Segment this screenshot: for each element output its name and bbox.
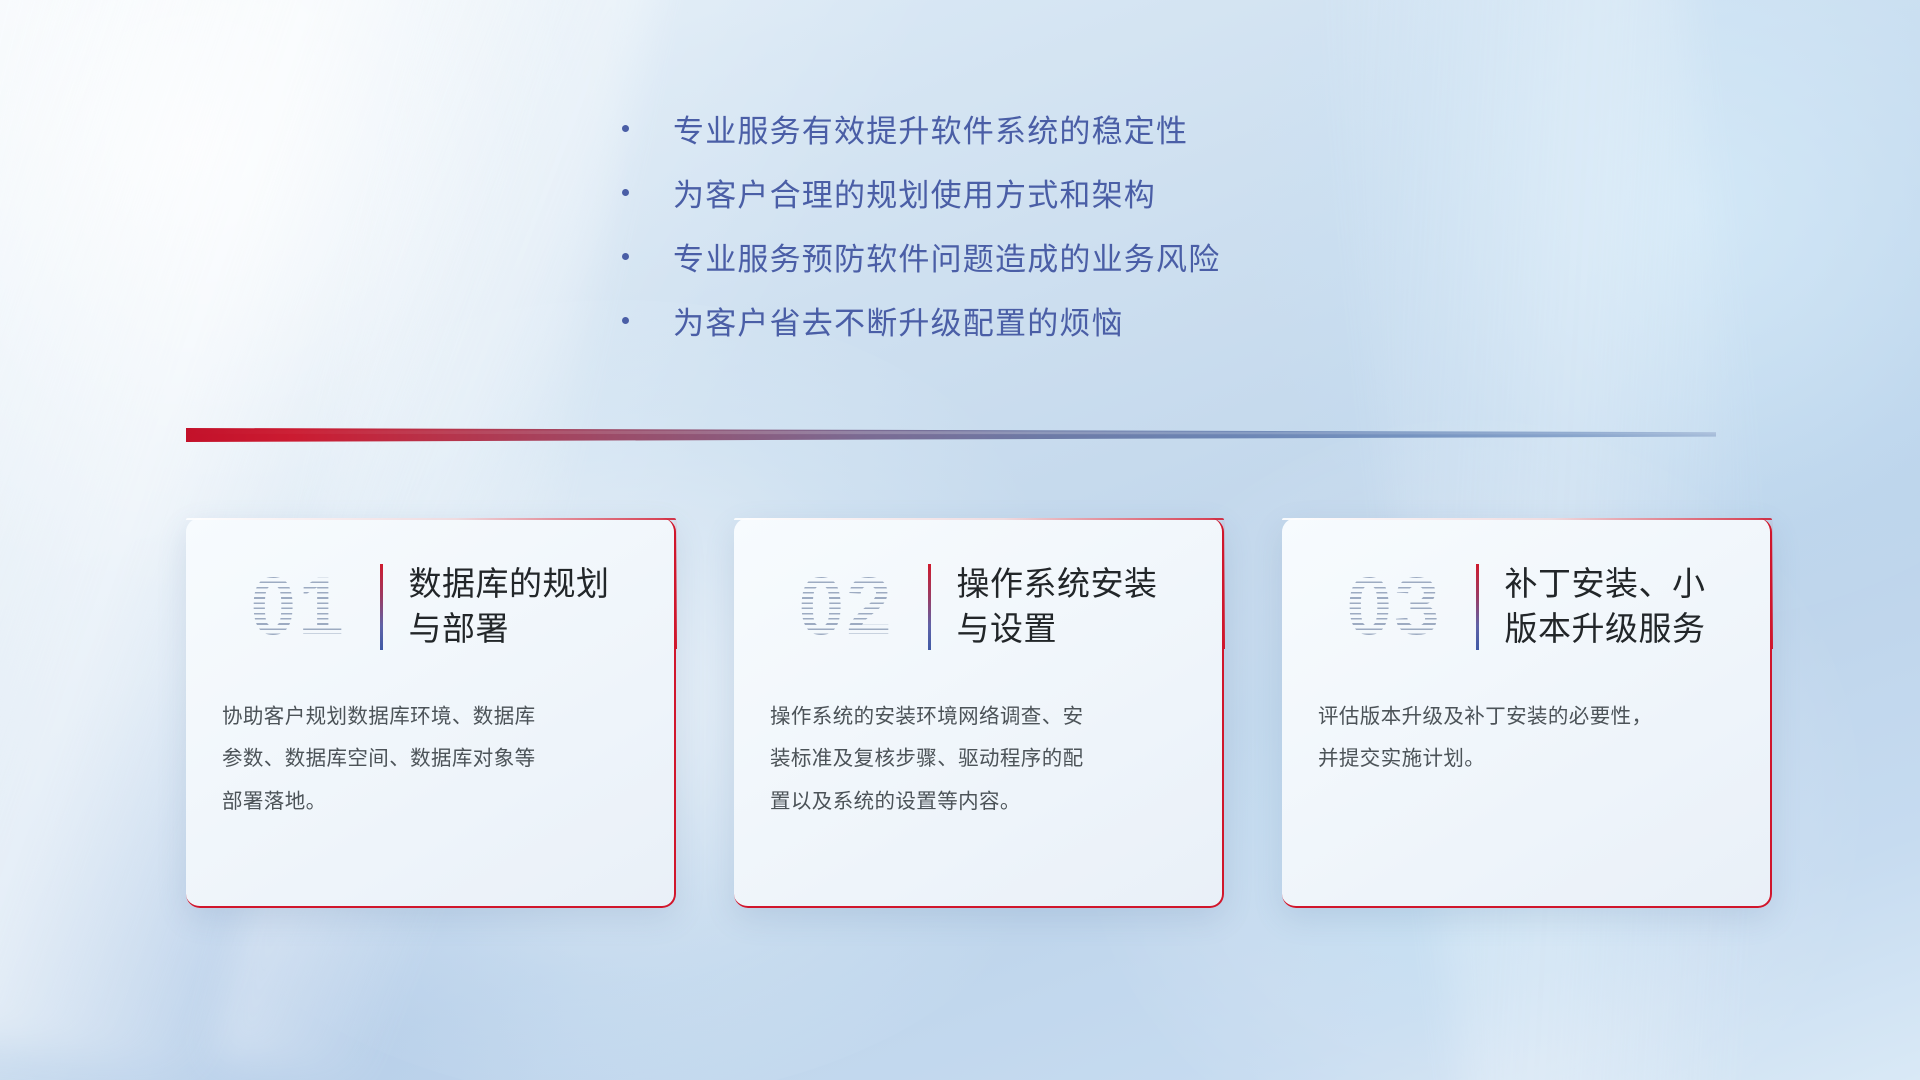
card-top-edge: [186, 518, 676, 520]
card-number-watermark: 01: [218, 566, 378, 648]
card-top-edge: [734, 518, 1224, 520]
list-item: 专业服务预防软件问题造成的业务风险: [610, 224, 1310, 288]
card-description: 协助客户规划数据库环境、数据库 参数、数据库空间、数据库对象等 部署落地。: [222, 696, 646, 823]
card-description: 操作系统的安装环境网络调查、安 装标准及复核步骤、驱动程序的配 置以及系统的设置…: [770, 696, 1194, 823]
card-top-edge: [1282, 518, 1772, 520]
bullet-text: 专业服务预防软件问题造成的业务风险: [673, 234, 1220, 279]
bullet-dot-icon: [622, 317, 629, 324]
list-item: 专业服务有效提升软件系统的稳定性: [610, 96, 1310, 160]
card-header: 01 数据库的规划 与部署: [186, 542, 676, 672]
card-title: 数据库的规划 与部署: [409, 562, 610, 651]
card-header: 02 操作系统安装 与设置: [734, 542, 1224, 672]
card-number-watermark: 02: [766, 566, 926, 648]
divider-bar: [186, 428, 1716, 442]
bullet-text: 专业服务有效提升软件系统的稳定性: [673, 106, 1188, 151]
list-item: 为客户合理的规划使用方式和架构: [610, 160, 1310, 224]
card-divider-line: [380, 564, 383, 650]
card-divider-line: [1476, 564, 1479, 650]
bullet-text: 为客户合理的规划使用方式和架构: [673, 170, 1156, 215]
card-divider-line: [928, 564, 931, 650]
bullet-dot-icon: [622, 189, 629, 196]
service-card-01[interactable]: 01 数据库的规划 与部署 协助客户规划数据库环境、数据库 参数、数据库空间、数…: [186, 518, 676, 908]
list-item: 为客户省去不断升级配置的烦恼: [610, 288, 1310, 352]
slide-canvas: 专业服务有效提升软件系统的稳定性 为客户合理的规划使用方式和架构 专业服务预防软…: [0, 0, 1920, 1080]
card-title: 操作系统安装 与设置: [957, 562, 1158, 651]
benefits-bullet-list: 专业服务有效提升软件系统的稳定性 为客户合理的规划使用方式和架构 专业服务预防软…: [0, 96, 1920, 352]
card-title: 补丁安装、小 版本升级服务: [1505, 562, 1706, 651]
service-card-list: 01 数据库的规划 与部署 协助客户规划数据库环境、数据库 参数、数据库空间、数…: [186, 518, 1772, 908]
section-divider: [186, 428, 1716, 442]
bullet-text: 为客户省去不断升级配置的烦恼: [673, 298, 1124, 343]
bullet-dot-icon: [622, 125, 629, 132]
card-description: 评估版本升级及补丁安装的必要性， 并提交实施计划。: [1318, 696, 1742, 781]
card-header: 03 补丁安装、小 版本升级服务: [1282, 542, 1772, 672]
card-number-watermark: 03: [1314, 566, 1474, 648]
bullet-dot-icon: [622, 253, 629, 260]
service-card-02[interactable]: 02 操作系统安装 与设置 操作系统的安装环境网络调查、安 装标准及复核步骤、驱…: [734, 518, 1224, 908]
service-card-03[interactable]: 03 补丁安装、小 版本升级服务 评估版本升级及补丁安装的必要性， 并提交实施计…: [1282, 518, 1772, 908]
